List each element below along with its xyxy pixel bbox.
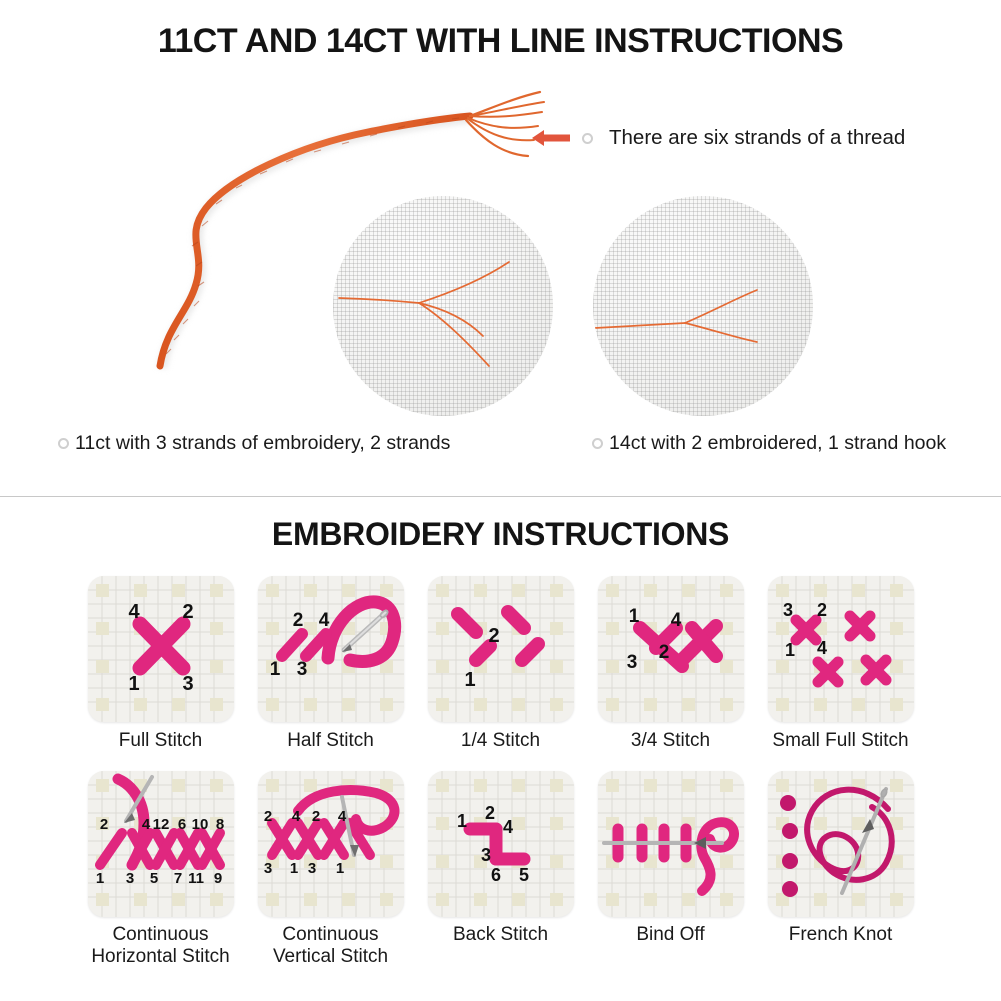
thread-note-text: There are six strands of a thread — [609, 126, 905, 150]
thread-note: There are six strands of a thread — [530, 126, 905, 150]
stitch-cell-three-quarter-stitch: 1 4 2 3 3/4 Stitch — [586, 576, 756, 751]
stitch-cell-continuous-horizontal: 2 4 12 6 10 8 1 3 5 7 11 — [76, 771, 246, 967]
three-quarter-stitch-art: 1 4 2 3 — [598, 576, 744, 722]
stitch-number: 2 — [488, 625, 499, 647]
stitch-number: 9 — [213, 870, 221, 887]
caption-11ct: 11ct with 3 strands of embroidery, 2 str… — [0, 432, 500, 455]
thread-3-strands-art — [333, 196, 553, 416]
section-divider — [0, 496, 1001, 497]
stitch-label: Full Stitch — [119, 730, 202, 751]
stitch-number: 1 — [95, 870, 103, 887]
circle-captions: 11ct with 3 strands of embroidery, 2 str… — [0, 432, 1001, 455]
stitch-number: 2 — [263, 808, 271, 825]
stitch-number: 11 — [188, 870, 204, 887]
stitch-number: 5 — [149, 870, 157, 887]
stitch-cell-full-stitch: 4 2 1 3 Full Stitch — [76, 576, 246, 751]
caption-11ct-text: 11ct with 3 strands of embroidery, 2 str… — [75, 432, 450, 455]
continuous-vertical-art: 2 4 2 4 3 1 3 1 — [258, 771, 404, 917]
stitch-tile: 4 2 1 3 — [88, 576, 234, 722]
stitch-number: 7 — [173, 870, 181, 887]
stitch-tile: 2 4 12 6 10 8 1 3 5 7 11 — [88, 771, 234, 917]
stitch-cell-back-stitch: 1 2 4 3 6 5 Back Stitch — [416, 771, 586, 967]
stitch-number: 6 — [177, 816, 185, 833]
stitch-label: French Knot — [789, 924, 893, 945]
stitch-grid: 4 2 1 3 Full Stitch — [0, 576, 1001, 967]
stitch-number: 2 — [311, 808, 319, 825]
embroidery-title: EMBROIDERY INSTRUCTIONS — [0, 516, 1001, 553]
stitch-label-line1: Continuous — [112, 924, 208, 945]
stitch-number: 2 — [816, 600, 826, 620]
stitch-label: 3/4 Stitch — [631, 730, 710, 751]
stitch-number: 3 — [307, 860, 315, 877]
stitch-number: 4 — [291, 808, 300, 825]
stitch-cell-bind-off: Bind Off — [586, 771, 756, 967]
stitch-number: 2 — [99, 816, 107, 833]
stitch-number: 2 — [292, 610, 303, 631]
stitch-number: 8 — [215, 816, 223, 833]
stitch-number: 1 — [335, 860, 343, 877]
stitch-tile: 3 2 1 4 — [768, 576, 914, 722]
stitch-number: 1 — [128, 673, 139, 695]
stitch-label-line2: Horizontal Stitch — [91, 946, 229, 967]
bullet-ring-icon — [58, 438, 69, 449]
stitch-cell-french-knot: French Knot — [756, 771, 926, 967]
full-stitch-art: 4 2 1 3 — [88, 576, 234, 722]
arrow-left-icon — [530, 127, 572, 149]
stitch-number: 3 — [263, 860, 271, 877]
stitch-cell-continuous-vertical: 2 4 2 4 3 1 3 1 Continuous — [246, 771, 416, 967]
stitch-number: 4 — [337, 808, 346, 825]
stitch-tile — [768, 771, 914, 917]
stitch-tile: 1 2 4 3 6 5 — [428, 771, 574, 917]
thread-2-strands-art — [593, 196, 813, 416]
stitch-number: 3 — [782, 600, 792, 620]
stitch-number: 2 — [182, 601, 193, 623]
bind-off-art — [598, 771, 744, 917]
stitch-number: 3 — [296, 659, 307, 680]
stitch-tile: 1 4 2 3 — [598, 576, 744, 722]
infographic-page: 11CT AND 14CT WITH LINE INSTRUCTIONS — [0, 0, 1001, 1001]
continuous-horizontal-art: 2 4 12 6 10 8 1 3 5 7 11 — [88, 771, 234, 917]
small-full-stitch-art: 3 2 1 4 — [768, 576, 914, 722]
stitch-number: 1 — [289, 860, 297, 877]
stitch-number: 4 — [816, 638, 826, 658]
french-knot-art — [768, 771, 914, 917]
stitch-tile: 2 1 — [428, 576, 574, 722]
stitch-number: 3 — [182, 673, 193, 695]
stitch-number: 4 — [318, 610, 329, 631]
stitch-number: 10 — [191, 816, 208, 833]
stitch-label: Half Stitch — [287, 730, 374, 751]
stitch-cell-small-full-stitch: 3 2 1 4 Small Full Stitch — [756, 576, 926, 751]
stitch-number: 4 — [128, 601, 140, 623]
section-thread-instructions: 11CT AND 14CT WITH LINE INSTRUCTIONS — [0, 0, 1001, 497]
stitch-tile: 2 4 1 3 — [258, 576, 404, 722]
stitch-label: Back Stitch — [453, 924, 548, 945]
stitch-number: 2 — [658, 642, 669, 663]
stitch-number: 4 — [670, 610, 681, 631]
stitch-label: Small Full Stitch — [772, 730, 908, 751]
stitch-label: Bind Off — [636, 924, 704, 945]
bullet-ring-icon — [582, 133, 593, 144]
stitch-label: Continuous Vertical Stitch — [273, 924, 388, 967]
quarter-stitch-art: 2 1 — [428, 576, 574, 722]
stitch-number: 5 — [518, 865, 528, 885]
stitch-label-line1: Continuous — [282, 924, 378, 945]
stitch-label: 1/4 Stitch — [461, 730, 540, 751]
stitch-cell-quarter-stitch: 2 1 1/4 Stitch — [416, 576, 586, 751]
knot-dots — [780, 795, 798, 897]
stitch-row-1: 4 2 1 3 Full Stitch — [0, 576, 1001, 751]
stitch-number: 2 — [484, 803, 494, 823]
back-stitch-art: 1 2 4 3 6 5 — [428, 771, 574, 917]
stitch-number: 1 — [628, 606, 639, 627]
page-title: 11CT AND 14CT WITH LINE INSTRUCTIONS — [0, 22, 1001, 61]
stitch-row-2: 2 4 12 6 10 8 1 3 5 7 11 — [0, 771, 1001, 967]
stitch-number: 3 — [480, 845, 490, 865]
stitch-number: 4 — [502, 817, 512, 837]
stitch-number: 1 — [456, 811, 466, 831]
stitch-label-line2: Vertical Stitch — [273, 946, 388, 967]
stitch-number: 3 — [125, 870, 133, 887]
stitch-number: 3 — [626, 652, 637, 673]
stitch-number: 1 — [269, 659, 280, 680]
stitch-label: Continuous Horizontal Stitch — [91, 924, 229, 967]
stitch-number: 4 — [141, 816, 150, 833]
stitch-tile: 2 4 2 4 3 1 3 1 — [258, 771, 404, 917]
half-stitch-art: 2 4 1 3 — [258, 576, 404, 722]
caption-14ct-text: 14ct with 2 embroidered, 1 strand hook — [609, 432, 946, 455]
stitch-cell-half-stitch: 2 4 1 3 Half Stitch — [246, 576, 416, 751]
stitch-tile — [598, 771, 744, 917]
stitch-number: 12 — [152, 816, 169, 833]
section-embroidery-instructions: EMBROIDERY INSTRUCTIONS — [0, 498, 1001, 1001]
fabric-circle-14ct — [593, 196, 813, 416]
caption-14ct: 14ct with 2 embroidered, 1 strand hook — [500, 432, 1001, 455]
fabric-circle-11ct — [333, 196, 553, 416]
bullet-ring-icon — [592, 438, 603, 449]
stitch-number: 6 — [490, 865, 500, 885]
stitch-number: 1 — [784, 640, 794, 660]
stitch-number: 1 — [464, 669, 475, 691]
